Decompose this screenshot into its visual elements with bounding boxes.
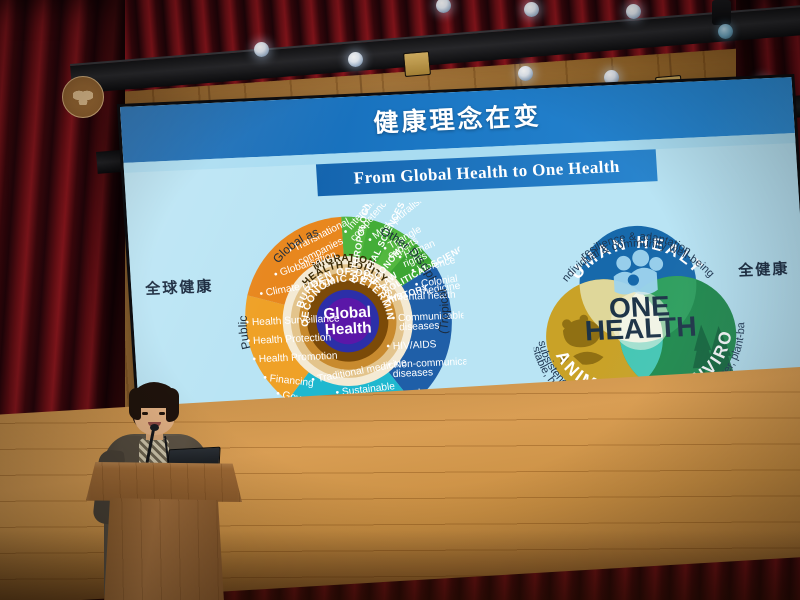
venn-center-label-line2: HEALTH xyxy=(584,311,698,347)
podium-institution-emblem xyxy=(62,76,104,118)
podium-top-surface xyxy=(86,462,242,502)
left-section-heading: 全球健康 xyxy=(145,275,214,299)
svg-text:diseases: diseases xyxy=(399,321,440,334)
wooden-podium xyxy=(86,462,242,600)
slide-subtitle: From Global Health to One Health xyxy=(353,157,620,189)
svg-text:diseases: diseases xyxy=(393,367,434,380)
auditorium-photo: 健康理念在变 From Global Health to One Health … xyxy=(0,0,800,600)
podium-body xyxy=(104,498,224,600)
wheel-outer-label-public-health: Public Health xyxy=(225,200,254,351)
microphone-head xyxy=(150,424,159,431)
svg-text:• HIV/AIDS: • HIV/AIDS xyxy=(386,339,437,352)
